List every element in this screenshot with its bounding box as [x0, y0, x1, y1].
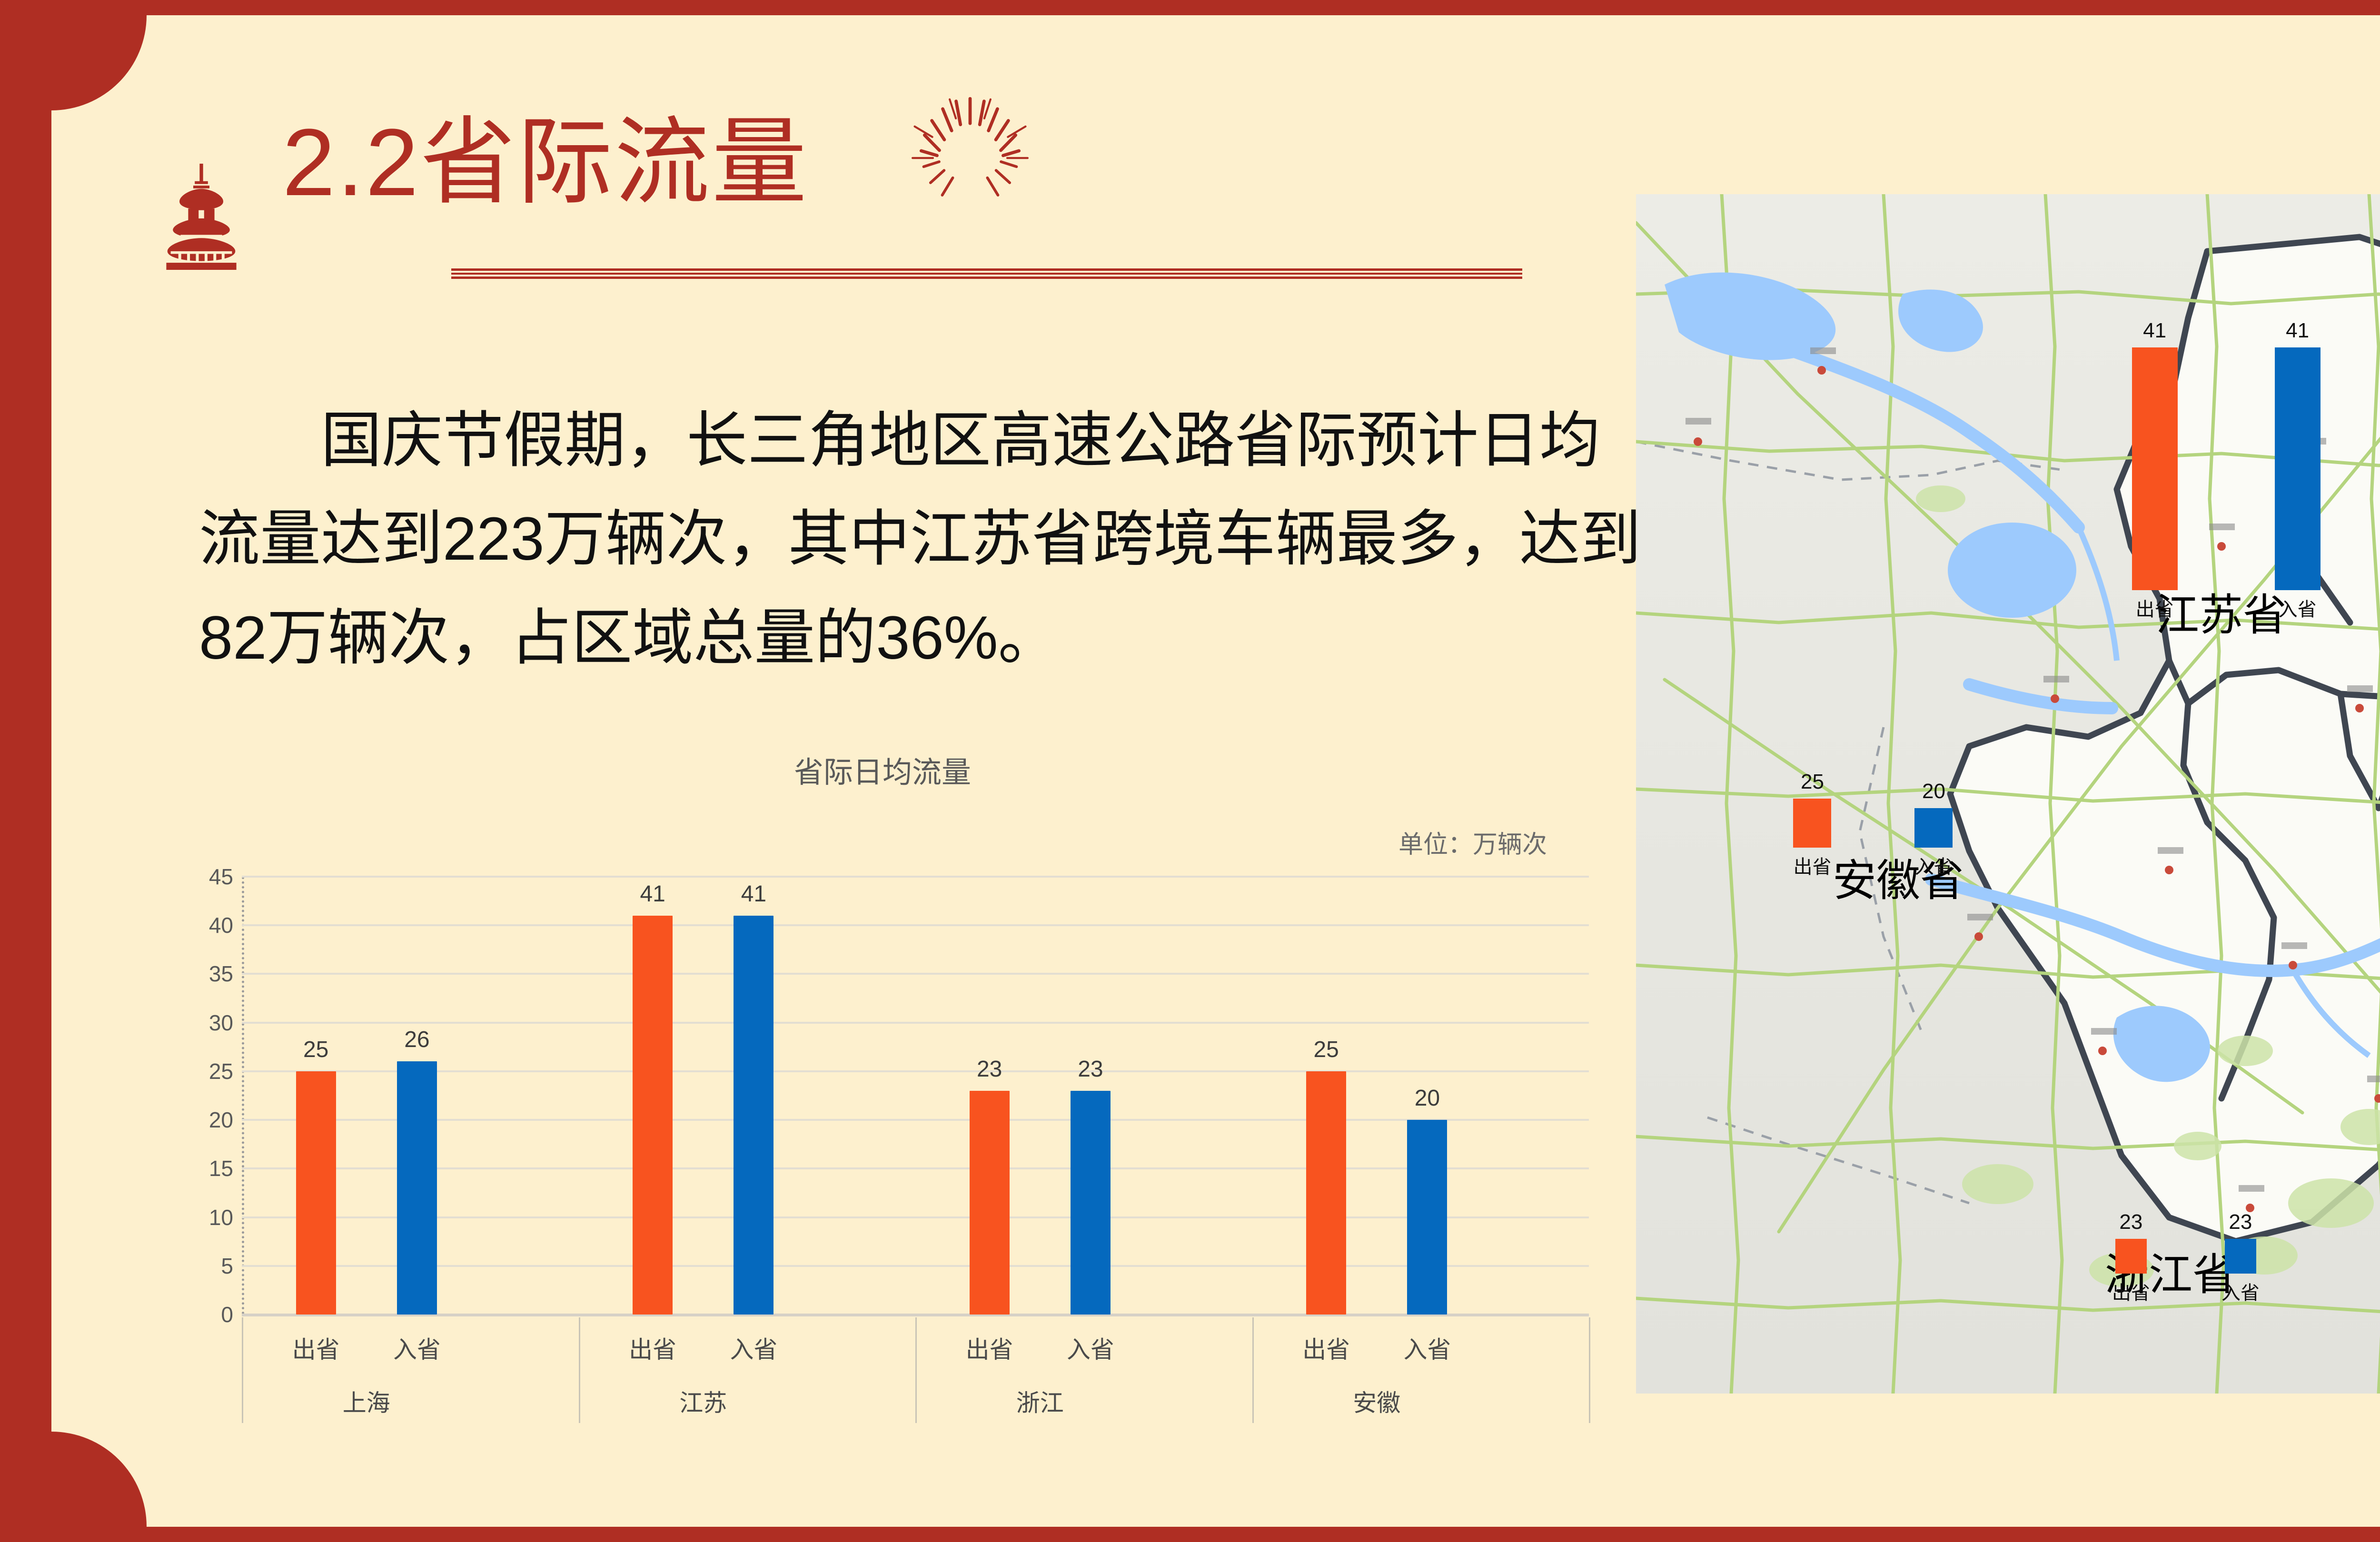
map-bar-label: 入省: [2221, 1277, 2260, 1305]
bar-value-label: 41: [741, 881, 766, 907]
gridline: [242, 1119, 1589, 1121]
y-axis-tick-label: 20: [209, 1107, 233, 1133]
x-axis-group-label: 上海: [343, 1384, 390, 1418]
map-bar-value: 23: [2229, 1210, 2252, 1234]
x-axis-group-label: 安徽: [1353, 1384, 1400, 1418]
gridline: [242, 1314, 1589, 1316]
bar-chart-plot: 051015202530354045 2526414123232520: [242, 877, 1589, 1315]
bar-value-label: 26: [404, 1027, 429, 1053]
map-bar-value: 41: [2143, 319, 2166, 343]
slide-root: 2.2省际流量 国庆节假期，长三角地区高速公路省际预计日均流量达到223万辆次，…: [0, 0, 2380, 1542]
corner-notch-top-left: [51, 15, 147, 110]
chart-bar: 41: [633, 916, 673, 1315]
y-axis-tick-label: 40: [209, 912, 233, 938]
bar-value-label: 25: [303, 1037, 328, 1063]
y-axis-tick-label: 5: [221, 1253, 233, 1279]
axis-separator: [1252, 1317, 1254, 1423]
map-bar-label: 出省: [2136, 594, 2174, 622]
x-axis-tick-label: 入省: [393, 1331, 441, 1365]
bar-value-label: 41: [640, 881, 665, 907]
bar-value-label: 23: [977, 1056, 1002, 1082]
map-bar-label: 出省: [2112, 1277, 2150, 1305]
y-axis-tick-label: 35: [209, 961, 233, 987]
x-axis-band: 出省入省出省入省出省入省出省入省上海江苏浙江安徽: [242, 1317, 1589, 1423]
pagoda-icon: [147, 160, 256, 270]
chart-title: 省际日均流量: [794, 748, 971, 791]
firework-icon: [908, 96, 1032, 220]
gridline: [242, 1265, 1589, 1267]
x-axis-tick-label: 入省: [730, 1331, 777, 1365]
map-bar: 25出省: [1793, 799, 1831, 848]
gridline: [242, 1070, 1589, 1072]
x-axis-tick-label: 入省: [1403, 1331, 1451, 1365]
content-panel: 2.2省际流量 国庆节假期，长三角地区高速公路省际预计日均流量达到223万辆次，…: [51, 15, 2380, 1527]
title-underline: [451, 268, 1522, 279]
x-axis-tick-label: 出省: [1302, 1331, 1350, 1365]
gridline: [242, 876, 1589, 878]
gridline: [242, 1167, 1589, 1169]
corner-notch-bottom-left: [51, 1432, 147, 1527]
bar-value-label: 20: [1415, 1085, 1440, 1111]
map-bar-label: 入省: [2279, 594, 2317, 622]
map-bar: 23出省: [2115, 1239, 2147, 1274]
y-axis-tick-label: 10: [209, 1205, 233, 1230]
chart-bar: 25: [296, 1071, 336, 1315]
y-axis-tick-label: 25: [209, 1058, 233, 1084]
map-bar: 41出省: [2132, 347, 2178, 590]
map-bar: 20入省: [1914, 808, 1953, 848]
x-axis-tick-label: 出省: [292, 1331, 340, 1365]
axis-separator: [1589, 1317, 1590, 1423]
gridline: [242, 924, 1589, 926]
map-bar-value: 41: [2286, 319, 2309, 343]
x-axis-tick-label: 入省: [1067, 1331, 1114, 1365]
map-bar: 41入省: [2275, 347, 2320, 590]
body-paragraph: 国庆节假期，长三角地区高速公路省际预计日均流量达到223万辆次，其中江苏省跨境车…: [199, 391, 1656, 687]
y-axis-line: [242, 877, 244, 1315]
x-axis-tick-label: 出省: [966, 1331, 1013, 1365]
map-bar-label: 入省: [1914, 851, 1953, 879]
page-title: 2.2省际流量: [282, 115, 809, 210]
y-axis-tick-label: 0: [221, 1302, 233, 1327]
chart-bar: 41: [734, 916, 773, 1315]
x-axis-group-label: 浙江: [1016, 1384, 1064, 1418]
chart-bar: 25: [1306, 1071, 1346, 1315]
chart-unit-note: 单位：万辆次: [1398, 824, 1547, 860]
axis-separator: [242, 1317, 243, 1423]
map-bar: 23入省: [2225, 1239, 2256, 1274]
x-axis-group-label: 江苏: [679, 1384, 727, 1418]
gridline: [242, 973, 1589, 975]
map-bar-value: 20: [1922, 780, 1945, 803]
chart-bar: 23: [970, 1091, 1010, 1315]
y-axis-tick-label: 30: [209, 1010, 233, 1036]
y-axis-tick-label: 45: [209, 864, 233, 890]
yangtze-delta-map[interactable]: 江苏省安徽省上海市浙江省41出省41入省25出省20入省25出省26入省23出省…: [1636, 194, 2380, 1394]
chart-bar: 23: [1071, 1091, 1111, 1315]
bar-value-label: 23: [1078, 1056, 1103, 1082]
map-bar-value: 25: [1801, 770, 1824, 794]
map-bar-label: 出省: [1793, 851, 1831, 879]
y-axis-tick-label: 15: [209, 1156, 233, 1181]
chart-bar: 26: [397, 1061, 437, 1315]
x-axis-tick-label: 出省: [629, 1331, 676, 1365]
axis-separator: [915, 1317, 917, 1423]
bar-value-label: 25: [1313, 1037, 1339, 1063]
gridline: [242, 1022, 1589, 1024]
map-bar-value: 23: [2119, 1210, 2142, 1234]
gridline: [242, 1216, 1589, 1218]
chart-bar: 20: [1407, 1120, 1447, 1315]
axis-separator: [579, 1317, 580, 1423]
